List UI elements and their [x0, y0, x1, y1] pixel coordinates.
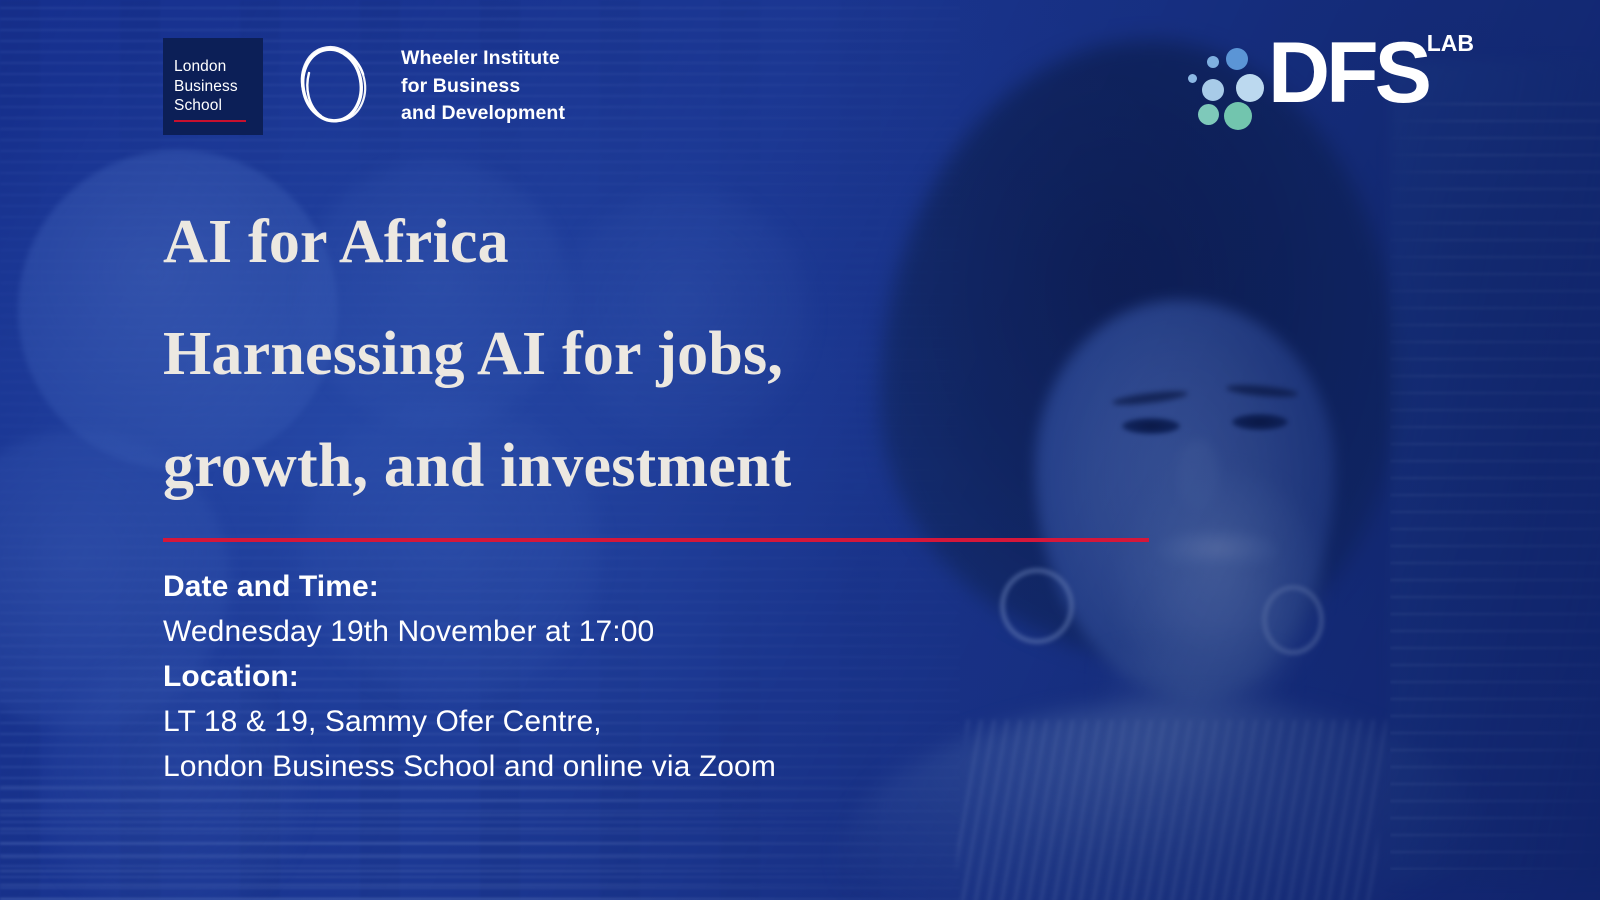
wheeler-line-2: for Business	[401, 73, 565, 101]
lbs-logo-red-rule	[174, 120, 246, 122]
date-label: Date and Time:	[163, 564, 776, 609]
lbs-logo: London Business School	[163, 38, 263, 135]
date-value: Wednesday 19th November at 17:00	[163, 609, 776, 654]
wheeler-line-3: and Development	[401, 100, 565, 128]
title-line-1: AI for Africa	[163, 186, 1043, 298]
dfs-lab-logo: DFS LAB	[1188, 30, 1428, 124]
title-line-2: Harnessing AI for jobs,	[163, 298, 1043, 410]
title-line-3: growth, and investment	[163, 410, 1043, 522]
location-line-2: London Business School and online via Zo…	[163, 744, 776, 789]
dfs-lab-superscript: LAB	[1427, 32, 1474, 55]
location-line-1: LT 18 & 19, Sammy Ofer Centre,	[163, 699, 776, 744]
location-label: Location:	[163, 654, 776, 699]
lbs-logo-line-3: School	[174, 96, 263, 116]
wheeler-line-1: Wheeler Institute	[401, 45, 565, 73]
dot-cluster-icon	[1188, 46, 1260, 124]
dfs-wordmark-text: DFS	[1268, 25, 1428, 121]
event-banner: London Business School Wheeler Institute…	[0, 0, 1600, 900]
page-title: AI for Africa Harnessing AI for jobs, gr…	[163, 186, 1043, 522]
event-details: Date and Time: Wednesday 19th November a…	[163, 564, 776, 789]
header-logos: London Business School Wheeler Institute…	[163, 38, 565, 135]
lbs-logo-line-1: London	[174, 57, 263, 77]
dfs-wordmark: DFS LAB	[1268, 30, 1428, 116]
red-divider	[163, 538, 1149, 542]
wheeler-institute-wordmark: Wheeler Institute for Business and Devel…	[401, 45, 565, 128]
lbs-logo-line-2: Business	[174, 77, 263, 97]
sketched-circle-icon	[293, 40, 371, 130]
